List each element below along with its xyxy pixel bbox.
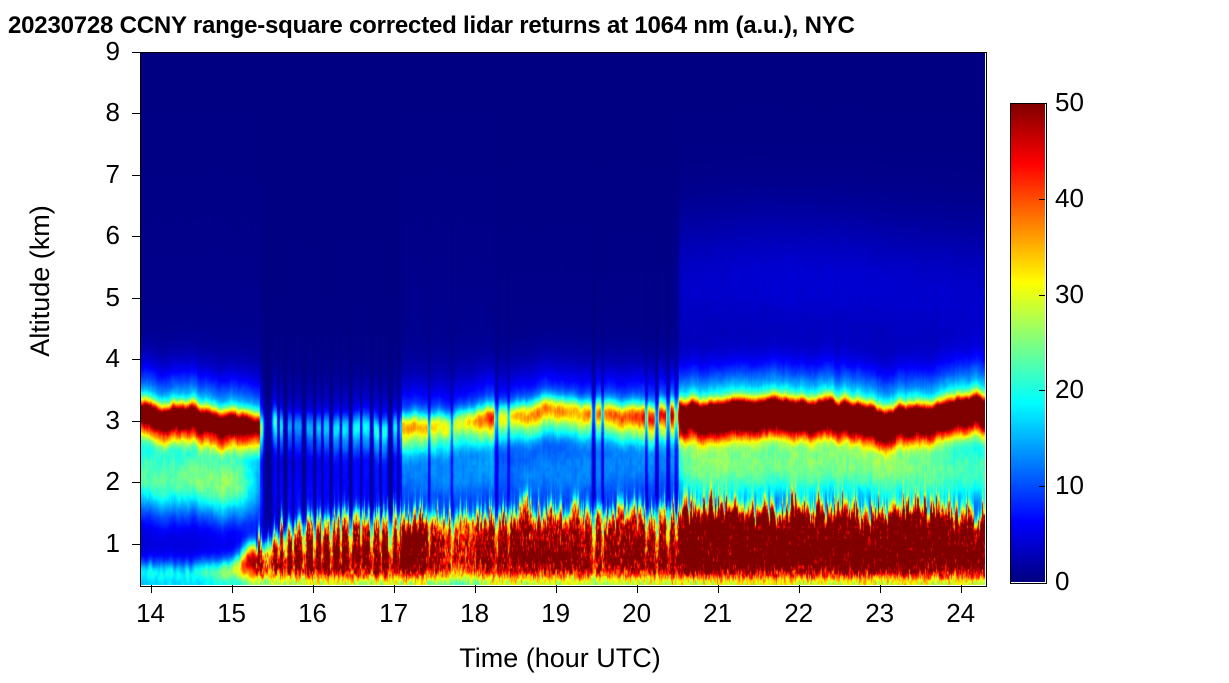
colorbar-tick-label: 40 (1055, 183, 1084, 213)
y-tick-label: 4 (80, 343, 120, 373)
colorbar-tick-label: 20 (1055, 374, 1084, 404)
y-tick-label: 3 (80, 405, 120, 435)
x-tick-label: 23 (850, 598, 910, 628)
y-tick (132, 298, 140, 299)
y-tick (132, 175, 140, 176)
x-axis-label: Time (hour UTC) (0, 642, 1120, 674)
x-tick-label: 14 (121, 598, 181, 628)
y-tick-label: 6 (80, 220, 120, 250)
colorbar-tick-label: 30 (1055, 279, 1084, 309)
y-axis-label: Altitude (km) (24, 151, 56, 411)
colorbar-tick (1039, 390, 1045, 391)
y-tick (132, 52, 140, 53)
page-title: 20230728 CCNY range-square corrected lid… (8, 12, 855, 40)
x-tick-label: 19 (526, 598, 586, 628)
heatmap-plot-area (140, 52, 985, 585)
y-tick-label: 8 (80, 97, 120, 127)
colorbar (1010, 103, 1045, 582)
y-tick-label: 5 (80, 282, 120, 312)
colorbar-tick (1039, 486, 1045, 487)
x-tick (313, 585, 314, 593)
lidar-heatmap-canvas (140, 52, 985, 585)
lidar-quicklook-figure: 20230728 CCNY range-square corrected lid… (0, 0, 1229, 683)
x-tick (475, 585, 476, 593)
y-tick (132, 236, 140, 237)
colorbar-tick-label: 50 (1055, 87, 1084, 117)
colorbar-tick-label: 0 (1055, 566, 1069, 596)
x-tick (718, 585, 719, 593)
y-tick-label: 7 (80, 159, 120, 189)
x-tick-label: 16 (283, 598, 343, 628)
x-tick-label: 17 (364, 598, 424, 628)
x-tick (880, 585, 881, 593)
y-tick (132, 359, 140, 360)
x-tick (556, 585, 557, 593)
y-tick (132, 421, 140, 422)
x-tick (151, 585, 152, 593)
x-tick-label: 22 (769, 598, 829, 628)
x-tick (637, 585, 638, 593)
y-tick (132, 544, 140, 545)
y-tick-label: 1 (80, 528, 120, 558)
y-tick-label: 2 (80, 466, 120, 496)
colorbar-tick (1039, 295, 1045, 296)
x-tick (961, 585, 962, 593)
x-tick-label: 18 (445, 598, 505, 628)
y-tick-label: 9 (80, 36, 120, 66)
colorbar-gradient (1010, 103, 1045, 582)
x-tick (394, 585, 395, 593)
x-tick (799, 585, 800, 593)
x-tick-label: 20 (607, 598, 667, 628)
x-tick-label: 15 (202, 598, 262, 628)
colorbar-tick-label: 10 (1055, 470, 1084, 500)
colorbar-tick (1039, 199, 1045, 200)
x-tick (232, 585, 233, 593)
y-tick (132, 482, 140, 483)
x-tick-label: 24 (931, 598, 991, 628)
x-tick-label: 21 (688, 598, 748, 628)
y-tick (132, 113, 140, 114)
